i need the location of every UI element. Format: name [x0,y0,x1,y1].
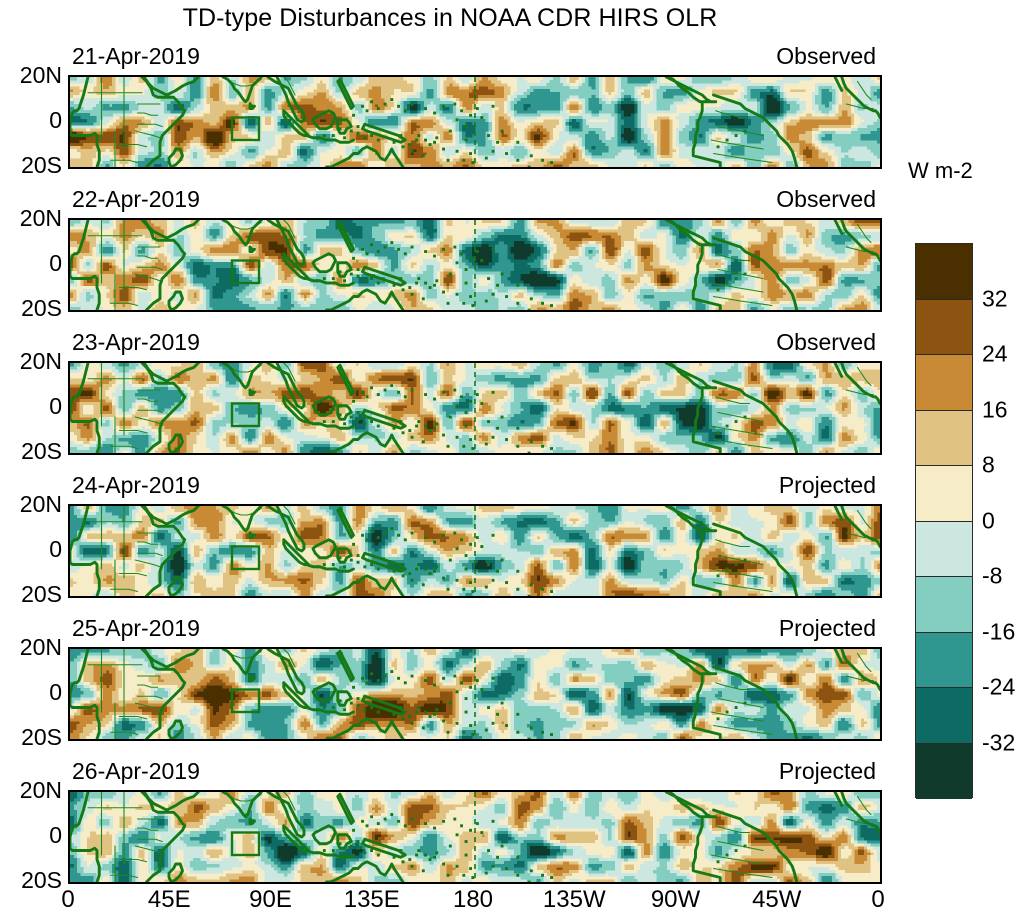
panel-date-label: 26-Apr-2019 [72,758,200,785]
y-tick-label: 20S [0,581,62,608]
y-tick-label: 20S [0,295,62,322]
x-tick-label: 45W [752,886,801,914]
y-tick-label: 20N [0,62,62,89]
y-tick-label: 20S [0,438,62,465]
panel-date-label: 23-Apr-2019 [72,329,200,356]
page-title: TD-type Disturbances in NOAA CDR HIRS OL… [0,4,900,33]
colorbar-tick-label: 8 [982,452,995,479]
panel-map[interactable] [68,361,882,455]
anomaly-map-canvas [70,649,880,739]
colorbar-tick-label: 16 [982,396,1008,423]
x-tick-label: 135E [344,886,400,914]
y-tick-label: 20N [0,491,62,518]
colorbar-band [916,744,972,800]
x-tick-label: 0 [871,886,884,914]
x-tick-label: 90E [249,886,292,914]
panel-map[interactable] [68,790,882,884]
panel-map[interactable] [68,75,882,169]
colorbar-band [916,522,972,578]
colorbar-band [916,466,972,522]
colorbar-band [916,244,972,300]
colorbar-tick-label: -24 [982,674,1015,701]
y-tick-label: 20S [0,724,62,751]
panel-date-label: 25-Apr-2019 [72,615,200,642]
colorbar-band [916,688,972,744]
figure-root: TD-type Disturbances in NOAA CDR HIRS OL… [0,0,1021,923]
panel-date-label: 21-Apr-2019 [72,43,200,70]
anomaly-map-canvas [70,77,880,167]
panel-map[interactable] [68,504,882,598]
colorbar-tick-label: -8 [982,563,1002,590]
y-tick-label: 0 [0,107,62,134]
x-tick-label: 90W [651,886,700,914]
panel-status-label: Projected [779,472,876,499]
panel-map[interactable] [68,647,882,741]
panel-status-label: Projected [779,758,876,785]
panel-date-label: 24-Apr-2019 [72,472,200,499]
anomaly-map-canvas [70,506,880,596]
panel-status-label: Observed [776,186,876,213]
colorbar-tick-label: 24 [982,341,1008,368]
y-tick-label: 20N [0,205,62,232]
x-axis-labels: 045E90E135E180135W90W45W0 [0,886,1021,922]
x-tick-label: 45E [148,886,191,914]
panel-status-label: Observed [776,43,876,70]
colorbar[interactable] [915,243,973,798]
y-tick-label: 20S [0,152,62,179]
colorbar-tick-label: -32 [982,729,1015,756]
anomaly-map-canvas [70,792,880,882]
panel-status-label: Observed [776,329,876,356]
y-tick-label: 0 [0,250,62,277]
y-tick-label: 20N [0,777,62,804]
colorbar-band [916,300,972,356]
colorbar-tick-label: 32 [982,285,1008,312]
colorbar-tick-label: 0 [982,507,995,534]
y-tick-label: 0 [0,822,62,849]
colorbar-tick-label: -16 [982,618,1015,645]
y-tick-label: 0 [0,536,62,563]
y-tick-label: 20N [0,634,62,661]
y-tick-label: 20N [0,348,62,375]
colorbar-band [916,577,972,633]
panel-date-label: 22-Apr-2019 [72,186,200,213]
anomaly-map-canvas [70,363,880,453]
y-tick-label: 0 [0,679,62,706]
colorbar-units-label: W m-2 [908,158,973,184]
y-tick-label: 0 [0,393,62,420]
panel-status-label: Projected [779,615,876,642]
x-tick-label: 180 [453,886,493,914]
colorbar-band [916,633,972,689]
colorbar-band [916,355,972,411]
x-tick-label: 135W [543,886,606,914]
panel-map[interactable] [68,218,882,312]
colorbar-band [916,411,972,467]
anomaly-map-canvas [70,220,880,310]
x-tick-label: 0 [61,886,74,914]
